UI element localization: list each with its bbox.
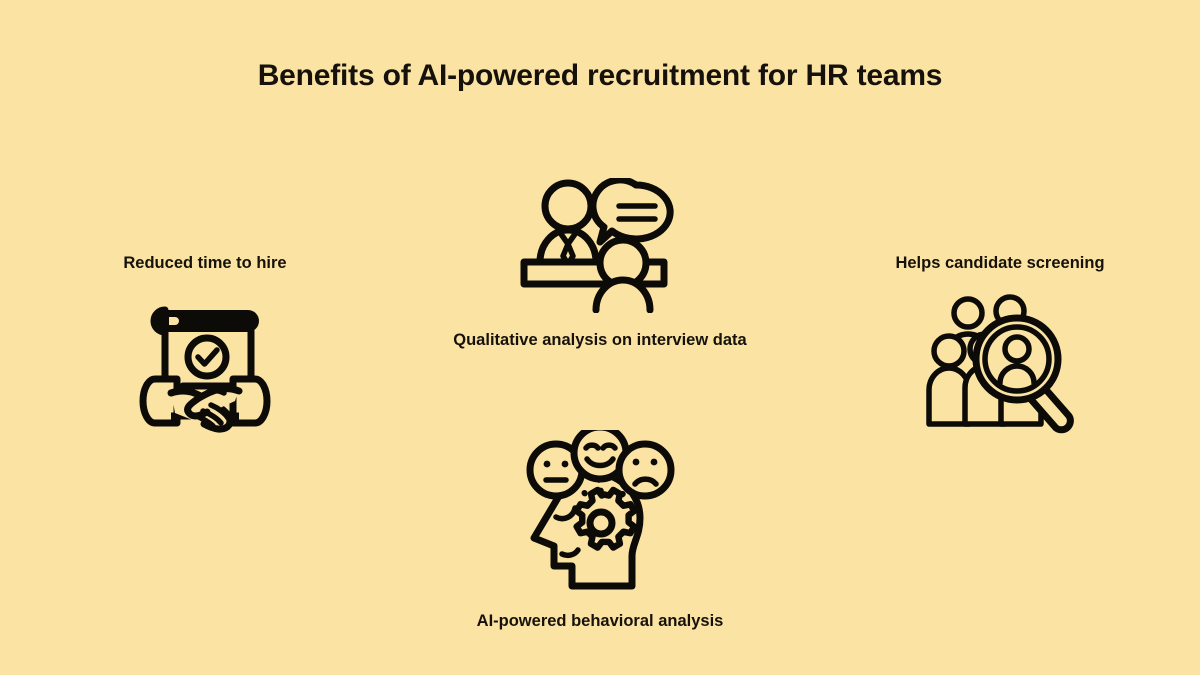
certificate-handshake-icon bbox=[135, 301, 275, 436]
slide-canvas: Benefits of AI-powered recruitment for H… bbox=[0, 0, 1200, 675]
benefit-item-time-to-hire: Reduced time to hire bbox=[60, 252, 350, 436]
benefit-item-behavioral: AI-powered behavioral analysis bbox=[450, 430, 750, 632]
head-gear-emotions-icon bbox=[523, 430, 678, 590]
benefit-label-qualitative: Qualitative analysis on interview data bbox=[415, 329, 785, 351]
benefit-label-behavioral: AI-powered behavioral analysis bbox=[450, 610, 750, 632]
benefit-label-screening: Helps candidate screening bbox=[855, 252, 1145, 274]
benefit-item-qualitative: Qualitative analysis on interview data bbox=[415, 178, 785, 351]
benefit-label-time-to-hire: Reduced time to hire bbox=[60, 252, 350, 274]
people-magnifier-icon bbox=[923, 294, 1078, 434]
benefit-item-screening: Helps candidate screening bbox=[855, 252, 1145, 434]
interview-speech-bubble-icon bbox=[520, 178, 680, 313]
page-title: Benefits of AI-powered recruitment for H… bbox=[0, 56, 1200, 96]
